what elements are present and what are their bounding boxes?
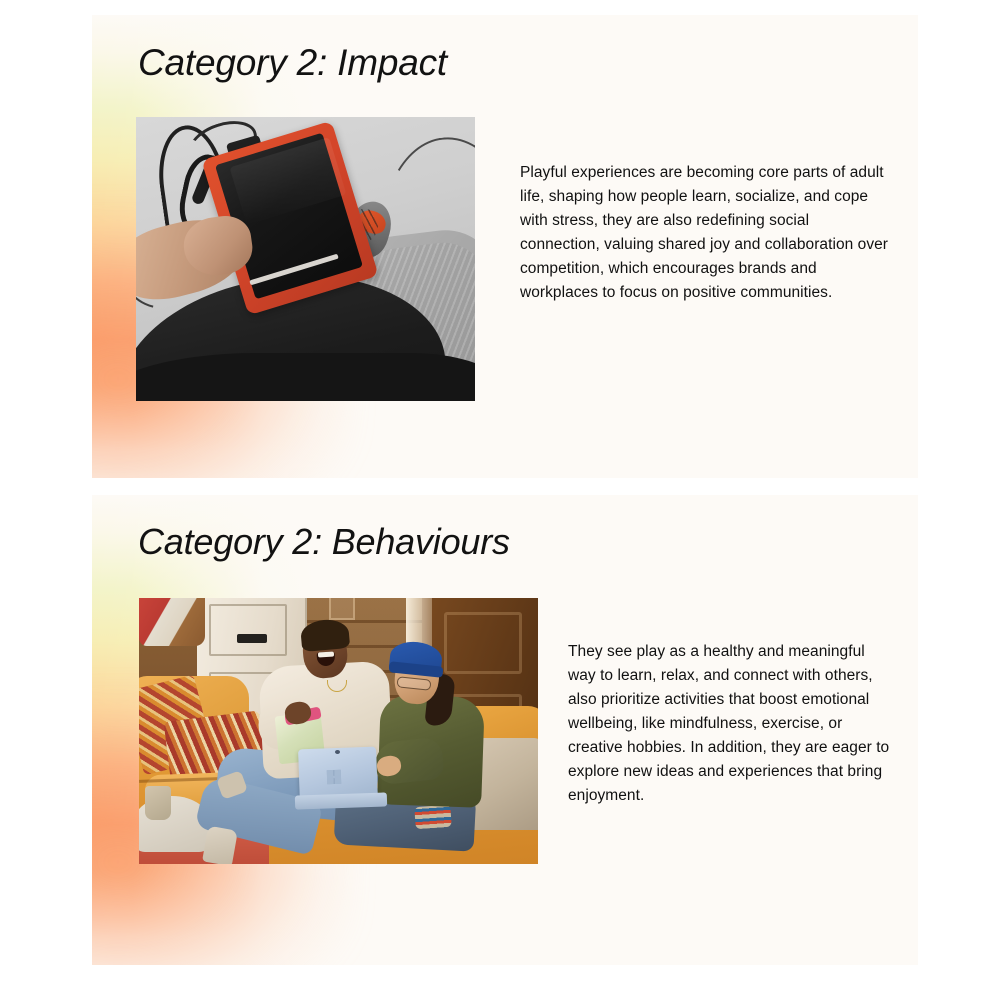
photo-illustration xyxy=(139,598,538,864)
ceramic-cup xyxy=(145,786,171,820)
photo-illustration xyxy=(136,117,475,401)
black-jacket-lower xyxy=(136,353,475,401)
card-behaviours: Category 2: Behaviours xyxy=(92,495,918,965)
door-panel xyxy=(209,604,287,656)
page-title-behaviours: Category 2: Behaviours xyxy=(138,521,510,563)
body-text-behaviours: They see play as a healthy and meaningfu… xyxy=(568,640,890,808)
laptop-webcam xyxy=(335,750,340,754)
image-two-friends-laughing-on-couch-with-laptop xyxy=(139,598,538,864)
slide-page: Category 2: Impact xyxy=(0,0,1000,1000)
body-text-impact: Playful experiences are becoming core pa… xyxy=(520,161,892,305)
page-title-impact: Category 2: Impact xyxy=(138,42,447,84)
image-person-on-bike-with-red-tablet xyxy=(136,117,475,401)
mail-slot xyxy=(237,634,267,643)
door-panel xyxy=(444,612,522,674)
person-a-sock xyxy=(202,826,238,864)
hanging-coats xyxy=(139,598,205,646)
person-b-striped-sock xyxy=(414,805,451,829)
card-impact: Category 2: Impact xyxy=(92,15,918,478)
laptop-logo xyxy=(327,770,341,784)
wall-picture-frame xyxy=(329,598,355,620)
